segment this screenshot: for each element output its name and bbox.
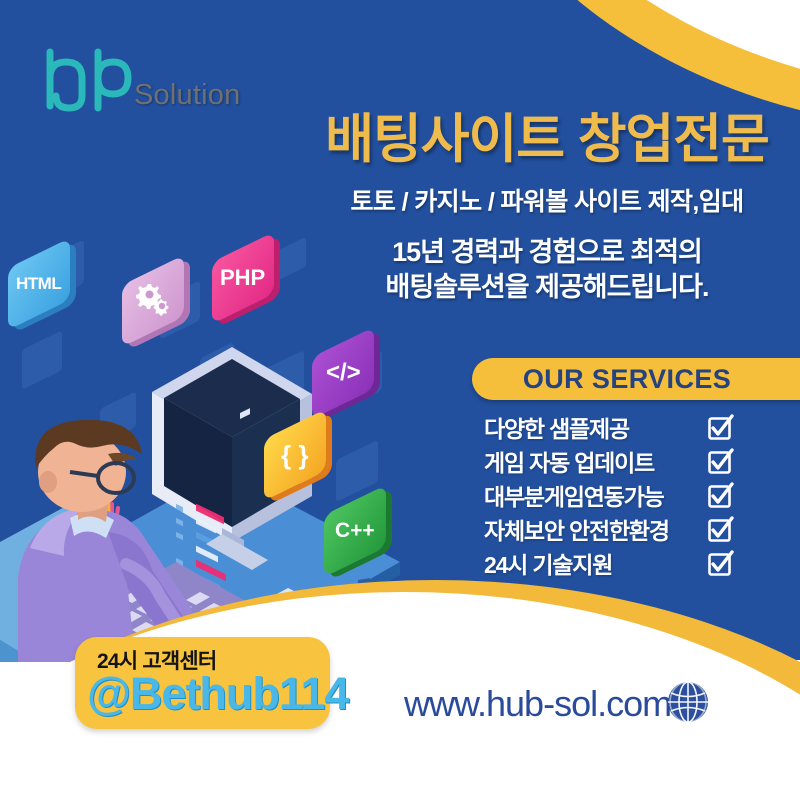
brand-logo: Solution xyxy=(40,44,240,116)
promo-poster: HTML PHP </> xyxy=(0,0,800,800)
hub-logo-icon xyxy=(40,44,132,116)
headline-tagline-line1: 15년 경력과 경험으로 최적의 xyxy=(312,235,782,270)
page-title: 배팅사이트 창업전문 xyxy=(312,112,782,168)
list-item: 게임 자동 업데이트 xyxy=(484,446,734,476)
service-label: 자체보안 안전한환경 xyxy=(484,512,669,546)
service-label: 대부분게임연동가능 xyxy=(484,478,664,512)
service-label: 다양한 샘플제공 xyxy=(484,410,629,444)
list-item: 24시 기술지원 xyxy=(484,548,734,578)
checkbox-checked-icon xyxy=(707,414,734,441)
headline-subtitle: 토토 / 카지노 / 파워볼 사이트 제작,임대 xyxy=(312,182,782,218)
checkbox-checked-icon xyxy=(707,482,734,509)
services-list: 다양한 샘플제공 게임 자동 업데이트 대부분게임연동가능 자체보안 안전한환경… xyxy=(484,412,734,582)
headline-block: 배팅사이트 창업전문 토토 / 카지노 / 파워볼 사이트 제작,임대 15년 … xyxy=(312,112,782,305)
code-tag-badge: </> xyxy=(312,342,374,404)
braces-badge: { } xyxy=(264,424,326,486)
messenger-handle[interactable]: @Bethub114 xyxy=(87,668,348,720)
cpp-badge: C++ xyxy=(324,500,386,562)
list-item: 다양한 샘플제공 xyxy=(484,412,734,442)
headline-tagline-line2: 배팅솔루션을 제공해드립니다. xyxy=(312,270,782,305)
website-url[interactable]: www.hub-sol.com xyxy=(404,683,671,725)
gears-badge xyxy=(122,270,184,332)
list-item: 대부분게임연동가능 xyxy=(484,480,734,510)
service-label: 게임 자동 업데이트 xyxy=(484,444,654,478)
customer-center-pill[interactable]: 24시 고객센터 @Bethub114 xyxy=(75,637,330,729)
list-item: 자체보안 안전한환경 xyxy=(484,514,734,544)
logo-suffix: Solution xyxy=(134,79,240,112)
checkbox-checked-icon xyxy=(707,550,734,577)
checkbox-checked-icon xyxy=(707,448,734,475)
globe-icon xyxy=(664,678,712,726)
gears-icon xyxy=(134,282,172,316)
php-badge: PHP xyxy=(212,247,274,309)
our-services-banner: OUR SERVICES xyxy=(472,358,800,400)
checkbox-checked-icon xyxy=(707,516,734,543)
service-label: 24시 기술지원 xyxy=(484,546,612,580)
our-services-label: OUR SERVICES xyxy=(523,364,761,395)
html-badge: HTML xyxy=(8,253,70,315)
